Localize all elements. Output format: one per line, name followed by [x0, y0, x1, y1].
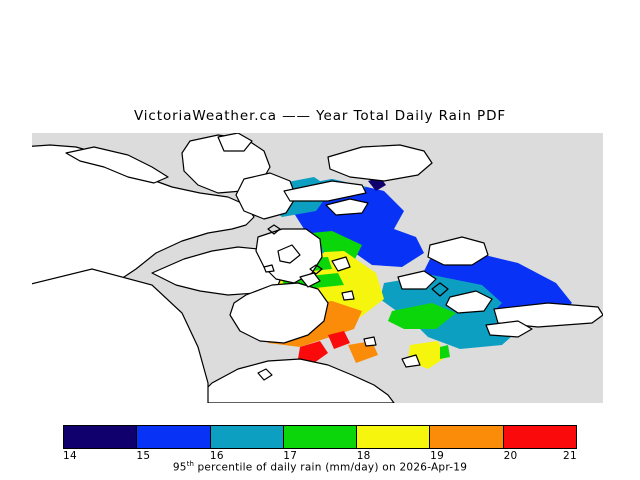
colorbar-caption-superscript: th — [187, 460, 194, 468]
colorbar-segment-19-20[interactable] — [430, 426, 503, 448]
land-speck-a — [264, 265, 274, 272]
colorbar-caption-prefix: 95 — [173, 462, 187, 474]
page-title: VictoriaWeather.ca —— Year Total Daily R… — [0, 108, 640, 124]
weather-map[interactable] — [32, 133, 603, 403]
map-canvas — [32, 133, 603, 403]
screenshot-root: VictoriaWeather.ca —— Year Total Daily R… — [0, 0, 640, 480]
colorbar-segment-17-18[interactable] — [284, 426, 357, 448]
colorbar-segment-16-17[interactable] — [211, 426, 284, 448]
colorbar-segment-14-15[interactable] — [64, 426, 137, 448]
colorbar-segment-20-21[interactable] — [504, 426, 576, 448]
colorbar[interactable] — [63, 425, 577, 449]
colorbar-segment-18-19[interactable] — [357, 426, 430, 448]
colorbar-strip[interactable] — [63, 425, 577, 449]
colorbar-caption-suffix: percentile of daily rain (mm/day) on 202… — [194, 462, 467, 474]
colorbar-caption: 95th percentile of daily rain (mm/day) o… — [0, 460, 640, 474]
land-speck-b — [342, 291, 354, 300]
colorbar-segment-15-16[interactable] — [137, 426, 210, 448]
land-speck-c — [364, 337, 376, 346]
